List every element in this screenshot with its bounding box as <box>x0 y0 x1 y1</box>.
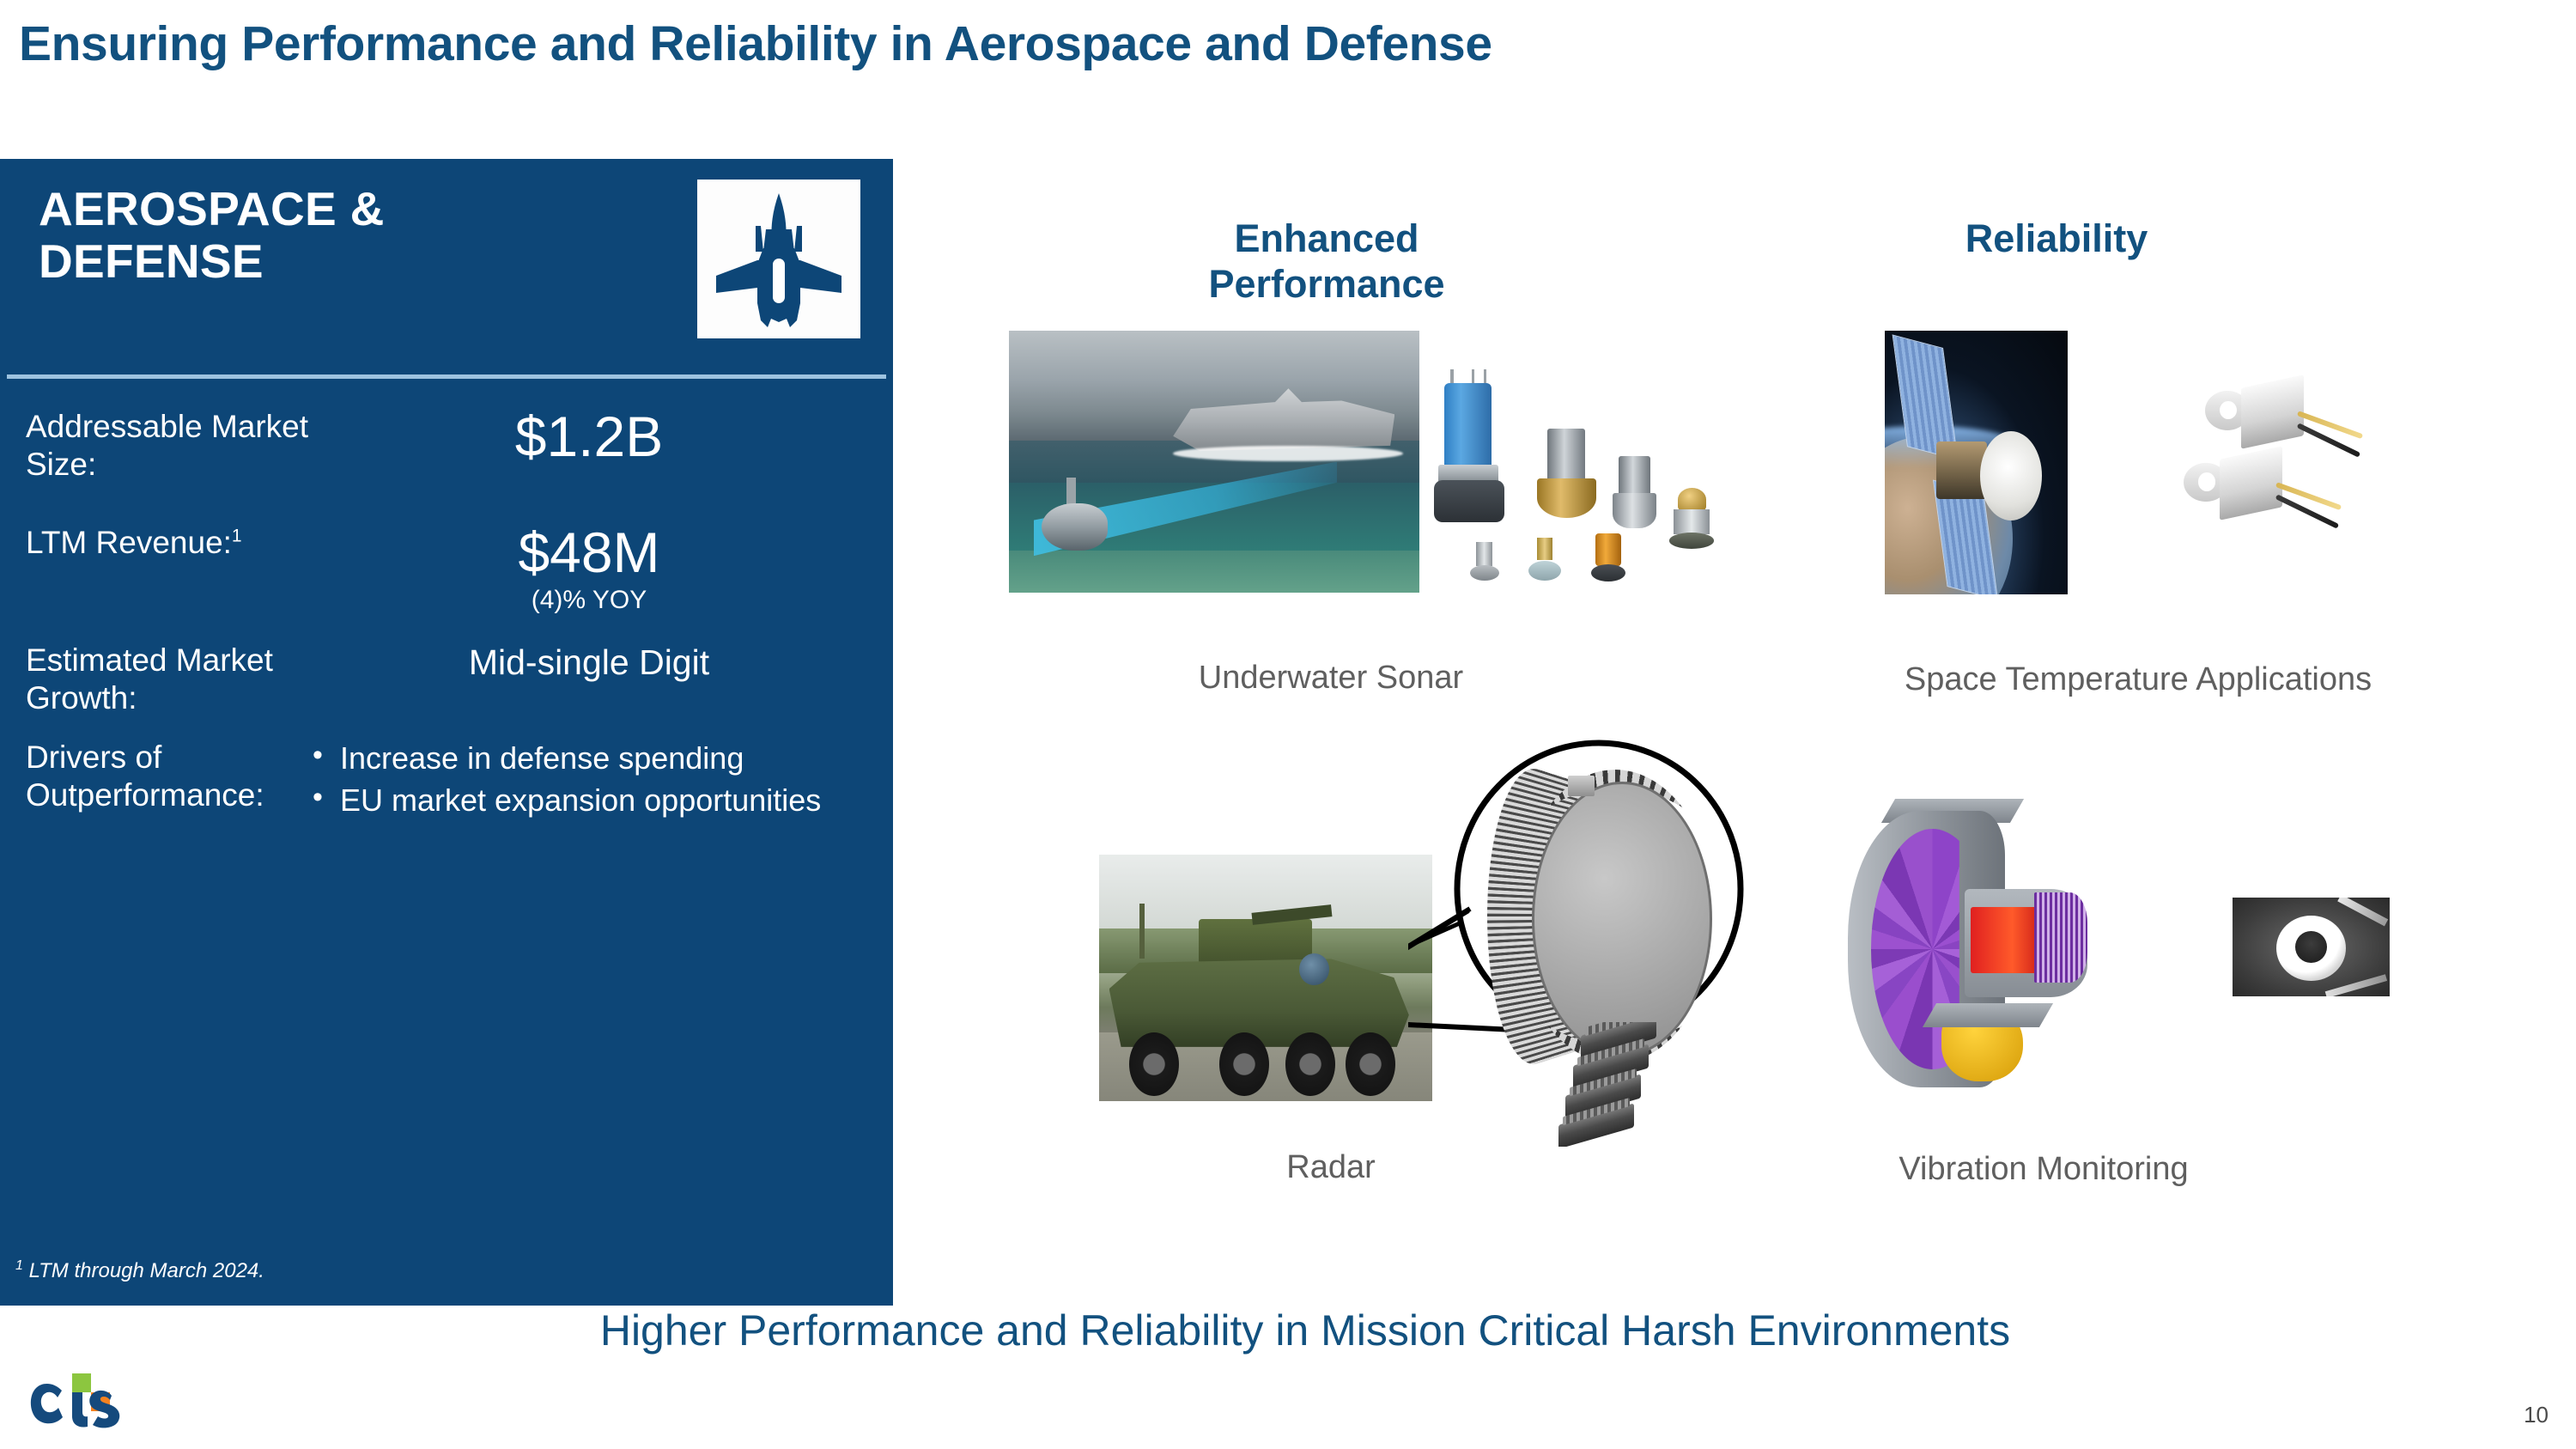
stat-value: $1.2B <box>309 408 869 465</box>
stat-label: Drivers of Outperformance: <box>26 739 309 813</box>
connector-blocks-image <box>1558 1022 1670 1147</box>
sensor-body <box>2241 374 2304 448</box>
piezo-ring-bore <box>2295 931 2327 963</box>
aerospace-defense-panel: AEROSPACE & DEFENSE Addressable Market S… <box>0 159 893 1306</box>
cts-logo <box>22 1372 160 1434</box>
piezo-ring-component-image <box>2233 898 2390 996</box>
sonar-transducer-components-image <box>1421 369 1747 597</box>
wheel <box>1129 1032 1179 1097</box>
footnote-marker: 1 <box>15 1258 23 1273</box>
naval-sonar-scene-image <box>1009 331 1419 593</box>
stat-value-group: $48M (4)% YOY <box>309 524 893 615</box>
blue-transducer <box>1434 379 1509 539</box>
panel-footnote: 1 LTM through March 2024. <box>15 1259 264 1283</box>
satellite-dish <box>1980 431 2042 521</box>
turbine-section <box>2034 892 2087 983</box>
radar-module <box>1487 770 1710 1063</box>
column-header-enhanced-performance: Enhanced Performance <box>1146 216 1507 307</box>
panel-divider <box>7 374 886 379</box>
radar-connector-nub <box>1568 776 1595 796</box>
caption-space-temperature-applications: Space Temperature Applications <box>1752 661 2524 698</box>
footnote-text: LTM through March 2024. <box>29 1259 264 1282</box>
seabed-layer <box>1009 551 1419 593</box>
tweezer-upper <box>2337 898 2388 927</box>
armored-vehicle-image <box>1099 855 1432 1101</box>
gold-lead-wire <box>2297 411 2363 439</box>
drivers-list: Increase in defense spending EU market e… <box>309 739 869 820</box>
antenna-mast <box>1139 904 1145 958</box>
amber-transducer <box>1591 533 1627 583</box>
stat-value: $48M <box>309 524 869 581</box>
stat-row-market-growth: Estimated Market Growth: Mid-single Digi… <box>0 642 893 716</box>
caption-vibration-monitoring: Vibration Monitoring <box>1709 1151 2379 1188</box>
page-title: Ensuring Performance and Reliability in … <box>19 15 1492 72</box>
jet-engine-cutaway-image <box>1842 799 2134 1099</box>
radar-disc-face <box>1532 782 1711 1057</box>
wheel <box>1219 1032 1269 1097</box>
list-item: EU market expansion opportunities <box>309 781 847 819</box>
stat-subvalue: (4)% YOY <box>309 586 869 615</box>
tweezer-lower <box>2325 974 2388 996</box>
caption-radar: Radar <box>1125 1149 1537 1186</box>
caption-underwater-sonar: Underwater Sonar <box>1125 660 1537 697</box>
engine-pylon-bottom <box>1923 1003 2053 1027</box>
stat-row-ltm-revenue: LTM Revenue:1 $48M (4)% YOY <box>0 524 893 615</box>
temperature-sensors-image <box>2147 369 2413 558</box>
column-header-reliability: Reliability <box>1876 216 2237 262</box>
stat-row-addressable-market: Addressable Market Size: $1.2B <box>0 408 893 483</box>
fighter-jet-icon <box>697 180 860 338</box>
stat-label: Addressable Market Size: <box>26 408 309 483</box>
black-lead-wire <box>2275 494 2339 528</box>
stat-label: Estimated Market Growth: <box>26 642 309 716</box>
radar-sensor-dome <box>1299 953 1329 985</box>
drivers-group: Increase in defense spending EU market e… <box>309 739 893 824</box>
logo-green-square <box>72 1373 91 1392</box>
panel-header: AEROSPACE & DEFENSE <box>0 159 893 375</box>
gold-lead-wire <box>2275 483 2342 511</box>
micro-transducer-2 <box>1528 538 1561 583</box>
page-number: 10 <box>2524 1402 2549 1428</box>
brass-base-transducer <box>1535 429 1601 524</box>
stat-value-group: $1.2B <box>309 408 893 465</box>
satellite-in-orbit-image <box>1885 331 2068 594</box>
gold-top-transducer <box>1669 488 1718 561</box>
stat-row-drivers: Drivers of Outperformance: Increase in d… <box>0 739 893 824</box>
stat-value: Mid-single Digit <box>309 642 869 683</box>
steel-transducer <box>1610 456 1662 533</box>
sensor-body <box>2220 446 2282 520</box>
slide-tagline: Higher Performance and Reliability in Mi… <box>515 1306 2095 1355</box>
towed-sonar-body <box>1042 503 1107 551</box>
stat-value-group: Mid-single Digit <box>309 642 893 683</box>
list-item: Increase in defense spending <box>309 739 847 777</box>
stat-label-text: LTM Revenue: <box>26 525 232 560</box>
footnote-marker: 1 <box>232 527 242 546</box>
temperature-sensor-lower <box>2184 445 2333 543</box>
panel-title: AEROSPACE & DEFENSE <box>39 183 597 287</box>
wheel <box>1346 1032 1395 1097</box>
micro-transducer-1 <box>1470 542 1499 581</box>
stat-label: LTM Revenue:1 <box>26 524 309 562</box>
